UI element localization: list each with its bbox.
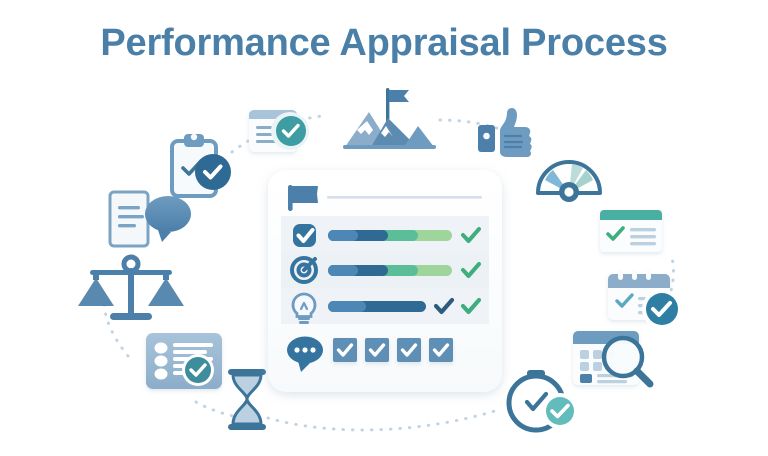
criteria-row-1[interactable] (281, 216, 489, 252)
progress-bar-1 (328, 230, 452, 241)
checkbox-checked-icon (293, 224, 316, 247)
thumbs-up-icon (478, 108, 532, 157)
feedback-checkbox-2[interactable] (365, 338, 389, 362)
calendar-search-icon (573, 331, 650, 385)
mountain-flag-icon (343, 88, 436, 149)
document-comment-icon (110, 192, 191, 246)
progress-bar-3 (328, 301, 426, 312)
scales-icon (78, 257, 184, 320)
performance-appraisal-illustration (0, 0, 768, 456)
appraisal-form-card[interactable] (268, 170, 502, 392)
criteria-row-2[interactable] (281, 252, 489, 288)
calendar-check-icon (608, 269, 682, 329)
feedback-checkbox-4[interactable] (429, 338, 453, 362)
criteria-row-3[interactable] (281, 288, 489, 324)
title-placeholder-line (327, 196, 482, 199)
document-approved-icon (249, 110, 309, 152)
feedback-checkbox-1[interactable] (333, 338, 357, 362)
feedback-checkbox-3[interactable] (397, 338, 421, 362)
review-card-icon (600, 210, 662, 252)
stopwatch-check-icon (509, 370, 578, 430)
checklist-card-icon (146, 333, 222, 389)
illustration-canvas: Performance Appraisal Process (0, 0, 768, 456)
clipboard-check-icon (172, 134, 231, 196)
gauge-icon (538, 162, 600, 202)
hourglass-icon (228, 369, 266, 430)
progress-bar-2 (328, 265, 452, 276)
